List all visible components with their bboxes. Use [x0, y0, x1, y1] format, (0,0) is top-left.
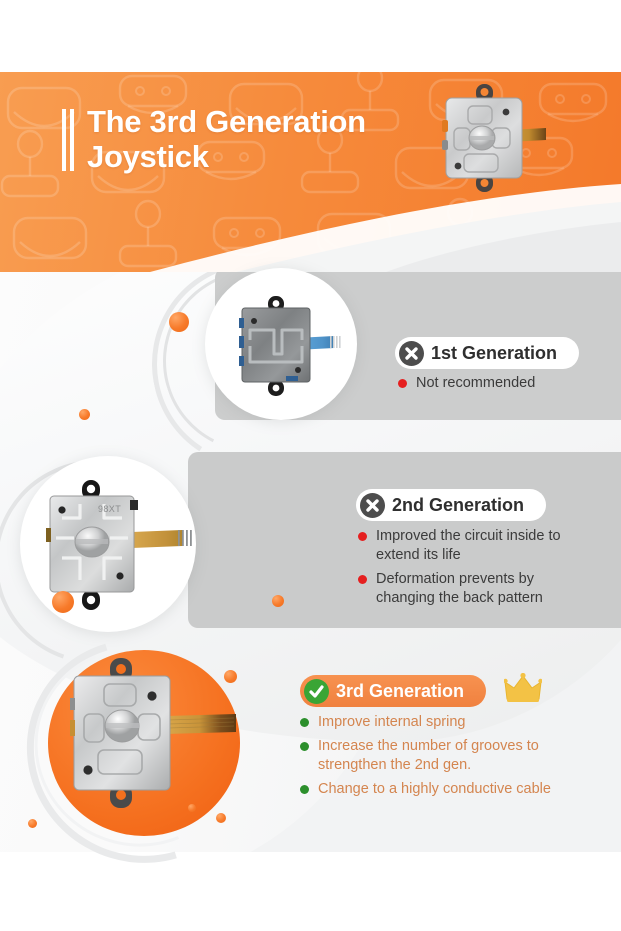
- gen2-bullet-2: Deformation prevents by changing the bac…: [376, 570, 583, 608]
- gen3-bullet-1: Improve internal spring: [318, 713, 466, 732]
- bullet-dot-icon: [358, 575, 367, 584]
- decor-dot-5: [224, 670, 237, 683]
- title-line-1: The 3rd Generation: [87, 104, 366, 139]
- title-accent-bars: [62, 104, 74, 171]
- crown-icon: [504, 673, 542, 703]
- header-joystick-image: [432, 84, 550, 192]
- title-bar-2: [70, 109, 74, 171]
- gen3-bullet-list: Improve internal spring Increase the num…: [300, 713, 580, 804]
- decor-dot-1: [169, 312, 189, 332]
- gen1-bullet-1: Not recommended: [416, 374, 535, 393]
- list-item: Deformation prevents by changing the bac…: [358, 570, 583, 608]
- decor-dot-4: [272, 595, 284, 607]
- gen1-joystick-image: [230, 296, 348, 396]
- title-bar-1: [62, 109, 66, 171]
- gen2-bullet-list: Improved the circuit inside to extend it…: [358, 527, 583, 613]
- list-item: Change to a highly conductive cable: [300, 780, 580, 799]
- title-line-2: Joystick: [87, 139, 366, 174]
- decor-dot-3: [52, 591, 74, 613]
- gen1-bullet-list: Not recommended: [398, 374, 608, 398]
- gen3-bullet-3: Change to a highly conductive cable: [318, 780, 551, 799]
- list-item: Not recommended: [398, 374, 608, 393]
- gen2-label: 2nd Generation: [392, 496, 524, 514]
- list-item: Increase the number of grooves to streng…: [300, 737, 580, 775]
- x-icon: [399, 341, 424, 366]
- decor-dot-7: [28, 819, 37, 828]
- gen3-label-pill: 3rd Generation: [300, 675, 486, 707]
- bullet-dot-icon: [300, 718, 309, 727]
- x-icon: [360, 493, 385, 518]
- gen2-label-pill: 2nd Generation: [356, 489, 546, 521]
- bullet-dot-icon: [398, 379, 407, 388]
- gen2-bullet-1: Improved the circuit inside to extend it…: [376, 527, 583, 565]
- title-text-block: The 3rd Generation Joystick: [87, 104, 366, 174]
- list-item: Improve internal spring: [300, 713, 580, 732]
- page-title: The 3rd Generation Joystick: [62, 104, 366, 174]
- decor-dot-6: [216, 813, 226, 823]
- bullet-dot-icon: [358, 532, 367, 541]
- decor-dot-2: [79, 409, 90, 420]
- gen1-label-pill: 1st Generation: [395, 337, 579, 369]
- gen2-module-marking: 98XT: [98, 504, 121, 514]
- bullet-dot-icon: [300, 742, 309, 751]
- list-item: Improved the circuit inside to extend it…: [358, 527, 583, 565]
- gen3-label: 3rd Generation: [336, 682, 464, 700]
- decor-dot-8: [188, 804, 196, 812]
- infographic-page: The 3rd Generation Joystick: [0, 0, 621, 931]
- bullet-dot-icon: [300, 785, 309, 794]
- check-icon: [304, 679, 329, 704]
- gen1-label: 1st Generation: [431, 344, 557, 362]
- gen3-bullet-2: Increase the number of grooves to streng…: [318, 737, 580, 775]
